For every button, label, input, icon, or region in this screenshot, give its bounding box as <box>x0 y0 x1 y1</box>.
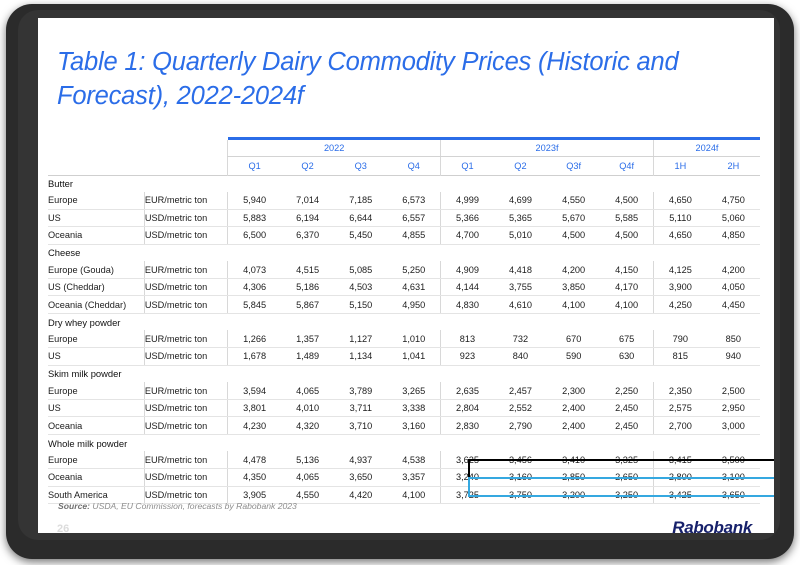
price-cell: 3,240 <box>441 469 494 486</box>
price-cell: 1,357 <box>281 330 334 347</box>
row-unit-label: EUR/metric ton <box>144 192 227 209</box>
period-header-5: Q2 <box>494 156 547 175</box>
table-row: USUSD/metric ton3,8014,0103,7113,3382,80… <box>48 400 760 417</box>
table-row: OceaniaUSD/metric ton4,2304,3203,7103,16… <box>48 417 760 434</box>
price-cell: 2,450 <box>600 400 653 417</box>
device-bezel: Table 1: Quarterly Dairy Commodity Price… <box>6 4 794 559</box>
price-cell: 5,085 <box>334 261 387 278</box>
row-unit-label: USD/metric ton <box>144 400 227 417</box>
price-cell: 923 <box>441 348 494 365</box>
price-cell: 2,450 <box>600 417 653 434</box>
price-cell: 1,041 <box>387 348 440 365</box>
price-cell: 5,867 <box>281 296 334 313</box>
price-cell: 2,790 <box>494 417 547 434</box>
price-cell: 2,552 <box>494 400 547 417</box>
price-cell: 4,650 <box>653 192 706 209</box>
price-cell: 4,200 <box>547 261 600 278</box>
price-cell: 4,073 <box>228 261 281 278</box>
price-cell: 4,230 <box>228 417 281 434</box>
table-row: EuropeEUR/metric ton4,4785,1364,9374,538… <box>48 451 760 468</box>
price-cell: 3,900 <box>653 279 706 296</box>
price-cell: 4,100 <box>387 486 440 503</box>
price-cell: 4,631 <box>387 279 440 296</box>
price-cell: 4,200 <box>707 261 760 278</box>
price-cell: 732 <box>494 330 547 347</box>
price-cell: 2,635 <box>441 382 494 399</box>
section-header-row: Skim milk powder <box>48 365 760 382</box>
table-row: US (Cheddar)USD/metric ton4,3065,1864,50… <box>48 279 760 296</box>
price-cell: 5,845 <box>228 296 281 313</box>
price-cell: 3,265 <box>387 382 440 399</box>
source-note: Source: USDA, EU Commission, forecasts b… <box>58 501 297 511</box>
table-row: USUSD/metric ton1,6781,4891,1341,0419238… <box>48 348 760 365</box>
price-cell: 840 <box>494 348 547 365</box>
price-cell: 6,573 <box>387 192 440 209</box>
price-cell: 5,365 <box>494 209 547 226</box>
rabobank-logo: Rabobank <box>672 518 752 533</box>
group-header-spacer <box>48 140 228 156</box>
price-cell: 815 <box>653 348 706 365</box>
price-cell: 5,883 <box>228 209 281 226</box>
price-cell: 4,610 <box>494 296 547 313</box>
price-cell: 4,478 <box>228 451 281 468</box>
price-cell: 813 <box>441 330 494 347</box>
price-cell: 2,950 <box>707 400 760 417</box>
row-region-name: US <box>48 209 144 226</box>
price-cell: 2,500 <box>707 382 760 399</box>
price-cell: 850 <box>707 330 760 347</box>
price-cell: 2,650 <box>600 469 653 486</box>
price-cell: 2,300 <box>547 382 600 399</box>
price-cell: 3,456 <box>494 451 547 468</box>
row-unit-label: USD/metric ton <box>144 469 227 486</box>
price-cell: 630 <box>600 348 653 365</box>
price-cell: 2,830 <box>441 417 494 434</box>
period-header-4: Q1 <box>441 156 494 175</box>
table-row: USUSD/metric ton5,8836,1946,6446,5575,36… <box>48 209 760 226</box>
row-unit-label: USD/metric ton <box>144 417 227 434</box>
price-cell: 4,937 <box>334 451 387 468</box>
price-cell: 4,150 <box>600 261 653 278</box>
price-cell: 4,420 <box>334 486 387 503</box>
column-group-header-row: 20222023f2024f <box>48 140 760 156</box>
price-cell: 4,850 <box>707 227 760 244</box>
price-cell: 3,415 <box>653 451 706 468</box>
price-cell: 4,538 <box>387 451 440 468</box>
price-cell: 3,801 <box>228 400 281 417</box>
price-cell: 4,500 <box>600 227 653 244</box>
price-cell: 4,170 <box>600 279 653 296</box>
price-cell: 5,670 <box>547 209 600 226</box>
price-cell: 2,350 <box>653 382 706 399</box>
row-region-name: US <box>48 348 144 365</box>
price-cell: 3,711 <box>334 400 387 417</box>
price-cell: 2,800 <box>653 469 706 486</box>
price-cell: 6,500 <box>228 227 281 244</box>
price-cell: 4,830 <box>441 296 494 313</box>
section-header-row: Cheese <box>48 244 760 261</box>
row-region-name: Oceania <box>48 227 144 244</box>
price-cell: 3,160 <box>494 469 547 486</box>
price-cell: 4,350 <box>228 469 281 486</box>
price-cell: 1,489 <box>281 348 334 365</box>
price-cell: 4,500 <box>547 227 600 244</box>
row-unit-label: EUR/metric ton <box>144 451 227 468</box>
price-cell: 5,010 <box>494 227 547 244</box>
table-row: OceaniaUSD/metric ton4,3504,0653,6503,35… <box>48 469 760 486</box>
period-header-8: 1H <box>653 156 706 175</box>
price-cell: 4,855 <box>387 227 440 244</box>
price-cell: 4,100 <box>600 296 653 313</box>
row-unit-label: USD/metric ton <box>144 209 227 226</box>
period-header-0: Q1 <box>228 156 281 175</box>
table-body: 20222023f2024fQ1Q2Q3Q4Q1Q2Q3fQ4f1H2HButt… <box>48 137 760 503</box>
period-header-9: 2H <box>707 156 760 175</box>
price-cell: 590 <box>547 348 600 365</box>
row-unit-label: USD/metric ton <box>144 296 227 313</box>
price-cell: 3,789 <box>334 382 387 399</box>
price-cell: 3,000 <box>707 417 760 434</box>
price-cell: 1,266 <box>228 330 281 347</box>
price-cell: 4,515 <box>281 261 334 278</box>
price-cell: 4,999 <box>441 192 494 209</box>
price-cell: 4,065 <box>281 382 334 399</box>
price-cell: 3,338 <box>387 400 440 417</box>
row-region-name: Oceania (Cheddar) <box>48 296 144 313</box>
price-cell: 4,750 <box>707 192 760 209</box>
price-cell: 4,450 <box>707 296 760 313</box>
price-cell: 2,250 <box>600 382 653 399</box>
price-cell: 940 <box>707 348 760 365</box>
section-title: Skim milk powder <box>48 365 760 382</box>
period-header-3: Q4 <box>387 156 440 175</box>
price-cell: 3,100 <box>707 469 760 486</box>
page-title: Table 1: Quarterly Dairy Commodity Price… <box>57 45 757 113</box>
row-unit-label: USD/metric ton <box>144 348 227 365</box>
price-cell: 3,750 <box>494 486 547 503</box>
column-group-2024f: 2024f <box>653 140 760 156</box>
price-cell: 4,250 <box>653 296 706 313</box>
page-number: 26 <box>57 523 69 533</box>
period-header-6: Q3f <box>547 156 600 175</box>
price-cell: 1,127 <box>334 330 387 347</box>
row-region-name: US <box>48 400 144 417</box>
price-cell: 5,450 <box>334 227 387 244</box>
price-cell: 790 <box>653 330 706 347</box>
price-cell: 4,050 <box>707 279 760 296</box>
price-cell: 4,306 <box>228 279 281 296</box>
price-cell: 7,014 <box>281 192 334 209</box>
price-cell: 7,185 <box>334 192 387 209</box>
price-cell: 5,150 <box>334 296 387 313</box>
row-region-name: Oceania <box>48 469 144 486</box>
price-cell: 4,550 <box>547 192 600 209</box>
slide-page: Table 1: Quarterly Dairy Commodity Price… <box>38 18 774 533</box>
price-cell: 5,940 <box>228 192 281 209</box>
price-cell: 3,850 <box>547 279 600 296</box>
row-region-name: Oceania <box>48 417 144 434</box>
price-cell: 3,710 <box>334 417 387 434</box>
dairy-price-table: 20222023f2024fQ1Q2Q3Q4Q1Q2Q3fQ4f1H2HButt… <box>48 137 760 504</box>
row-unit-label: USD/metric ton <box>144 227 227 244</box>
section-title: Whole milk powder <box>48 434 760 451</box>
period-header-1: Q2 <box>281 156 334 175</box>
price-cell: 4,909 <box>441 261 494 278</box>
row-unit-label: USD/metric ton <box>144 279 227 296</box>
price-cell: 4,320 <box>281 417 334 434</box>
price-cell: 4,100 <box>547 296 600 313</box>
price-cell: 3,250 <box>600 486 653 503</box>
price-cell: 3,594 <box>228 382 281 399</box>
price-cell: 6,557 <box>387 209 440 226</box>
price-cell: 4,125 <box>653 261 706 278</box>
price-cell: 2,850 <box>547 469 600 486</box>
section-title: Butter <box>48 175 760 192</box>
price-cell: 3,425 <box>653 486 706 503</box>
row-unit-label: EUR/metric ton <box>144 382 227 399</box>
price-cell: 670 <box>547 330 600 347</box>
price-cell: 3,500 <box>707 451 760 468</box>
price-cell: 5,250 <box>387 261 440 278</box>
period-header-7: Q4f <box>600 156 653 175</box>
table-row: Oceania (Cheddar)USD/metric ton5,8455,86… <box>48 296 760 313</box>
table-row: EuropeEUR/metric ton5,9407,0147,1856,573… <box>48 192 760 209</box>
price-cell: 1,134 <box>334 348 387 365</box>
section-header-row: Dry whey powder <box>48 313 760 330</box>
price-cell: 4,010 <box>281 400 334 417</box>
source-text: USDA, EU Commission, forecasts by Raboba… <box>90 501 297 511</box>
price-cell: 675 <box>600 330 653 347</box>
column-group-2023f: 2023f <box>441 140 654 156</box>
price-cell: 3,357 <box>387 469 440 486</box>
price-cell: 3,625 <box>441 451 494 468</box>
price-cell: 5,060 <box>707 209 760 226</box>
price-cell: 3,650 <box>707 486 760 503</box>
price-cell: 4,065 <box>281 469 334 486</box>
table-row: EuropeEUR/metric ton1,2661,3571,1271,010… <box>48 330 760 347</box>
price-cell: 4,700 <box>441 227 494 244</box>
price-cell: 4,144 <box>441 279 494 296</box>
table-row: Europe (Gouda)EUR/metric ton4,0734,5155,… <box>48 261 760 278</box>
table-row: OceaniaUSD/metric ton6,5006,3705,4504,85… <box>48 227 760 244</box>
price-cell: 3,160 <box>387 417 440 434</box>
table-row: EuropeEUR/metric ton3,5944,0653,7893,265… <box>48 382 760 399</box>
row-region-name: Europe <box>48 330 144 347</box>
price-cell: 6,370 <box>281 227 334 244</box>
price-cell: 5,136 <box>281 451 334 468</box>
section-title: Dry whey powder <box>48 313 760 330</box>
row-region-name: Europe <box>48 192 144 209</box>
price-cell: 3,725 <box>441 486 494 503</box>
price-cell: 5,585 <box>600 209 653 226</box>
price-cell: 2,700 <box>653 417 706 434</box>
row-region-name: Europe (Gouda) <box>48 261 144 278</box>
row-unit-label: EUR/metric ton <box>144 330 227 347</box>
section-title: Cheese <box>48 244 760 261</box>
price-cell: 3,650 <box>334 469 387 486</box>
section-header-row: Whole milk powder <box>48 434 760 451</box>
price-cell: 1,678 <box>228 348 281 365</box>
row-region-name: US (Cheddar) <box>48 279 144 296</box>
column-group-2022: 2022 <box>228 140 441 156</box>
price-cell: 5,110 <box>653 209 706 226</box>
section-header-row: Butter <box>48 175 760 192</box>
price-cell: 2,400 <box>547 417 600 434</box>
price-cell: 3,410 <box>547 451 600 468</box>
price-cell: 3,325 <box>600 451 653 468</box>
price-cell: 4,500 <box>600 192 653 209</box>
row-unit-label: EUR/metric ton <box>144 261 227 278</box>
price-cell: 4,418 <box>494 261 547 278</box>
price-cell: 3,755 <box>494 279 547 296</box>
price-cell: 3,200 <box>547 486 600 503</box>
source-label: Source: <box>58 501 90 511</box>
row-region-name: Europe <box>48 451 144 468</box>
price-cell: 6,644 <box>334 209 387 226</box>
price-cell: 2,400 <box>547 400 600 417</box>
price-cell: 5,366 <box>441 209 494 226</box>
price-cell: 4,503 <box>334 279 387 296</box>
period-header-spacer <box>48 156 228 175</box>
price-cell: 2,804 <box>441 400 494 417</box>
row-region-name: Europe <box>48 382 144 399</box>
price-cell: 5,186 <box>281 279 334 296</box>
period-header-row: Q1Q2Q3Q4Q1Q2Q3fQ4f1H2H <box>48 156 760 175</box>
price-cell: 2,575 <box>653 400 706 417</box>
price-cell: 6,194 <box>281 209 334 226</box>
price-cell: 2,457 <box>494 382 547 399</box>
price-cell: 1,010 <box>387 330 440 347</box>
period-header-2: Q3 <box>334 156 387 175</box>
price-cell: 4,950 <box>387 296 440 313</box>
price-cell: 4,699 <box>494 192 547 209</box>
price-cell: 4,650 <box>653 227 706 244</box>
